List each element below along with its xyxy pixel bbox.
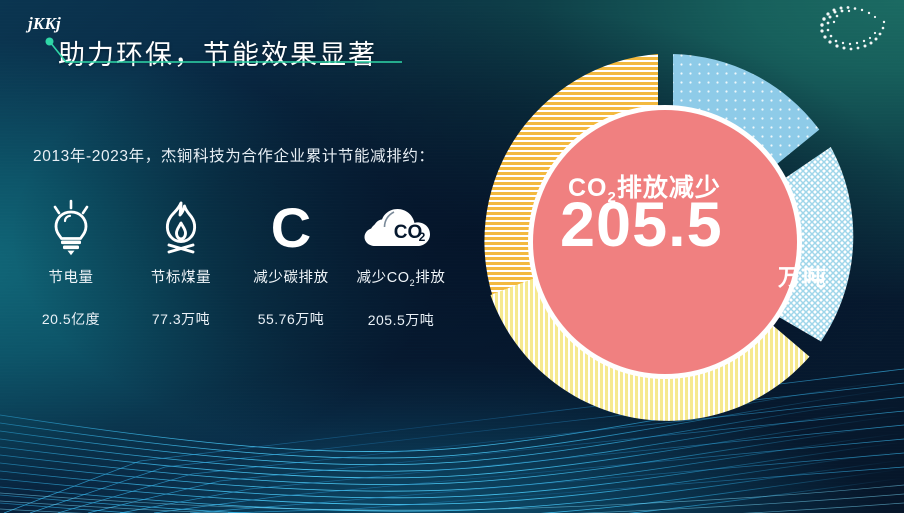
stat-label: 减少碳排放: [236, 266, 346, 287]
flame-icon: [126, 196, 236, 258]
stat-item-coal: 节标煤量 77.3万吨: [126, 196, 236, 330]
stat-row: 节电量 20.5亿度 节标煤量 77.3万吨 C: [16, 196, 486, 330]
donut-chart: [470, 42, 890, 442]
page-title: 助力环保，节能效果显著: [44, 40, 377, 71]
stat-label-prefix: 减少CO: [357, 270, 410, 286]
stat-label: 减少CO2排放: [346, 266, 456, 288]
lightbulb-icon: [16, 196, 126, 258]
slide-canvas: jKKj 助力环保，节能效果显著 2013年-2023年，杰锏科技为合作企业累计…: [0, 0, 904, 513]
svg-text:C: C: [271, 198, 311, 256]
stat-label: 节标煤量: [126, 266, 236, 287]
stat-item-co2: CO 2 减少CO2排放 205.5万吨: [346, 196, 456, 330]
carbon-c-icon: C: [236, 196, 346, 258]
title-accent-rule-icon: [44, 36, 404, 78]
stat-label-suffix: 排放: [415, 270, 445, 286]
stat-item-electricity: 节电量 20.5亿度: [16, 196, 126, 330]
stat-value: 77.3万吨: [126, 309, 236, 329]
stat-value: 55.76万吨: [236, 309, 346, 329]
co2-cloud-icon: CO 2: [346, 196, 456, 258]
donut-center-disc: [533, 110, 797, 374]
intro-paragraph: 2013年-2023年，杰锏科技为合作企业累计节能减排约：: [33, 142, 488, 172]
stat-label: 节电量: [16, 266, 126, 287]
stat-value: 205.5万吨: [346, 310, 456, 330]
stat-value: 20.5亿度: [16, 309, 126, 329]
brand-logo-text: jKKj: [28, 14, 61, 34]
stat-item-carbon: C 减少碳排放 55.76万吨: [236, 196, 346, 330]
